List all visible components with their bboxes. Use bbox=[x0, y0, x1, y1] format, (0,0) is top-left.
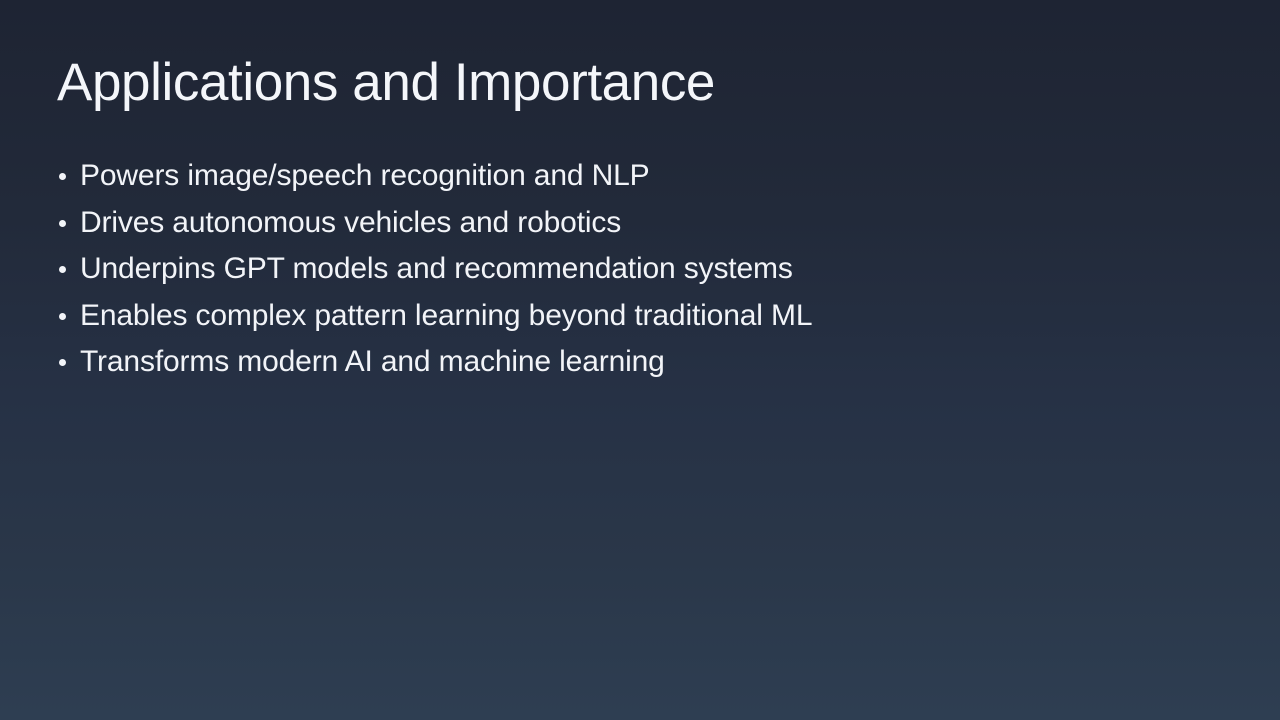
bullet-dot-icon bbox=[59, 359, 66, 366]
bullet-dot-icon bbox=[59, 313, 66, 320]
bullet-dot-icon bbox=[59, 173, 66, 180]
slide-bullet-list: Powers image/speech recognition and NLP … bbox=[57, 156, 1227, 389]
list-item-label: Powers image/speech recognition and NLP bbox=[80, 156, 649, 196]
list-item-label: Enables complex pattern learning beyond … bbox=[80, 296, 812, 336]
list-item-label: Transforms modern AI and machine learnin… bbox=[80, 342, 665, 382]
bullet-dot-icon bbox=[59, 266, 66, 273]
list-item-label: Drives autonomous vehicles and robotics bbox=[80, 203, 621, 243]
list-item: Drives autonomous vehicles and robotics bbox=[57, 203, 1227, 250]
list-item: Transforms modern AI and machine learnin… bbox=[57, 342, 1227, 389]
page-title: Applications and Importance bbox=[57, 53, 1217, 112]
list-item: Enables complex pattern learning beyond … bbox=[57, 296, 1227, 343]
bullet-dot-icon bbox=[59, 220, 66, 227]
list-item-label: Underpins GPT models and recommendation … bbox=[80, 249, 793, 289]
list-item: Powers image/speech recognition and NLP bbox=[57, 156, 1227, 203]
list-item: Underpins GPT models and recommendation … bbox=[57, 249, 1227, 296]
presentation-slide: Applications and Importance Powers image… bbox=[0, 0, 1280, 720]
